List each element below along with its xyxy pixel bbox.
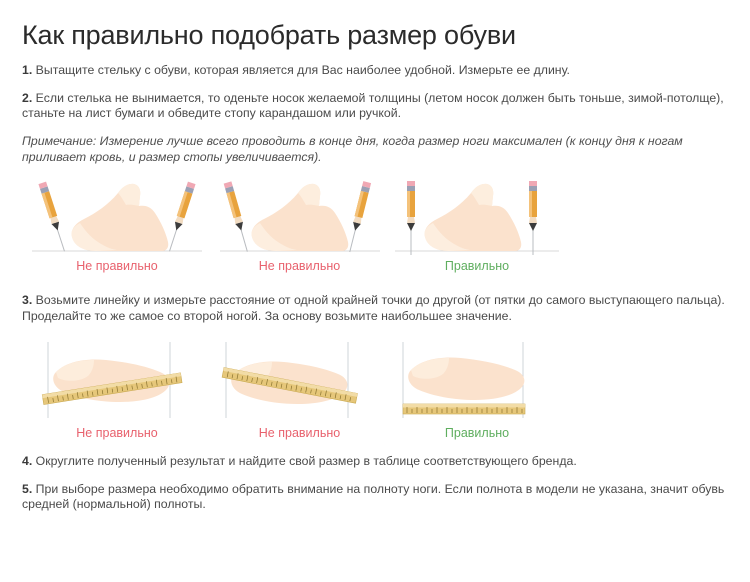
illustration-pencil-vertical: Правильно <box>387 179 567 279</box>
step-number: 3. <box>22 293 32 307</box>
step-text: Вытащите стельку с обуви, которая являет… <box>32 63 570 77</box>
illustration-row-rulers: Не правильно <box>22 340 728 440</box>
instruction-step-4: 4. Округлите полученный результат и найд… <box>22 454 728 470</box>
illustration-caption: Не правильно <box>212 426 387 440</box>
illustration-ruler-horizontal: Правильно <box>387 340 567 440</box>
ruler-horizontal-drawing <box>387 340 567 422</box>
illustration-pencil-tilted-outward: Не правильно <box>22 179 212 279</box>
illustration-ruler-tilted-down: Не правильно <box>212 340 387 440</box>
instruction-step-2: 2. Если стелька не вынимается, то оденьт… <box>22 91 728 122</box>
ruler-tilted-down-drawing <box>212 340 387 422</box>
step-text: При выборе размера необходимо обратить в… <box>22 482 724 512</box>
illustration-caption: Не правильно <box>22 259 212 273</box>
instruction-step-5: 5. При выборе размера необходимо обратит… <box>22 482 728 513</box>
instruction-step-3: 3. Возьмите линейку и измерьте расстояни… <box>22 293 728 324</box>
step-number: 2. <box>22 91 32 105</box>
step-number: 1. <box>22 63 32 77</box>
illustration-pencil-tilted-inward: Не правильно <box>212 179 387 279</box>
page-title: Как правильно подобрать размер обуви <box>22 18 728 52</box>
illustration-caption: Правильно <box>387 426 567 440</box>
instruction-step-1: 1. Вытащите стельку с обуви, которая явл… <box>22 63 728 79</box>
illustration-caption: Не правильно <box>22 426 212 440</box>
article-page: Как правильно подобрать размер обуви 1. … <box>0 18 750 582</box>
pencil-vertical-drawing <box>387 179 567 259</box>
illustration-caption: Правильно <box>387 259 567 273</box>
step-text: Возьмите линейку и измерьте расстояние о… <box>22 293 725 323</box>
illustration-caption: Не правильно <box>212 259 387 273</box>
step-text: Округлите полученный результат и найдите… <box>32 454 576 468</box>
step-number: 4. <box>22 454 32 468</box>
ruler-tilted-up-drawing <box>22 340 212 422</box>
pencil-tilted-outward-drawing <box>22 179 212 259</box>
step-number: 5. <box>22 482 32 496</box>
pencil-tilted-inward-drawing <box>212 179 387 259</box>
step-text: Если стелька не вынимается, то оденьте н… <box>22 91 724 121</box>
illustration-row-pencils: Не правильно <box>22 179 728 279</box>
measurement-note: Примечание: Измерение лучше всего провод… <box>22 134 722 165</box>
illustration-ruler-tilted-up: Не правильно <box>22 340 212 440</box>
